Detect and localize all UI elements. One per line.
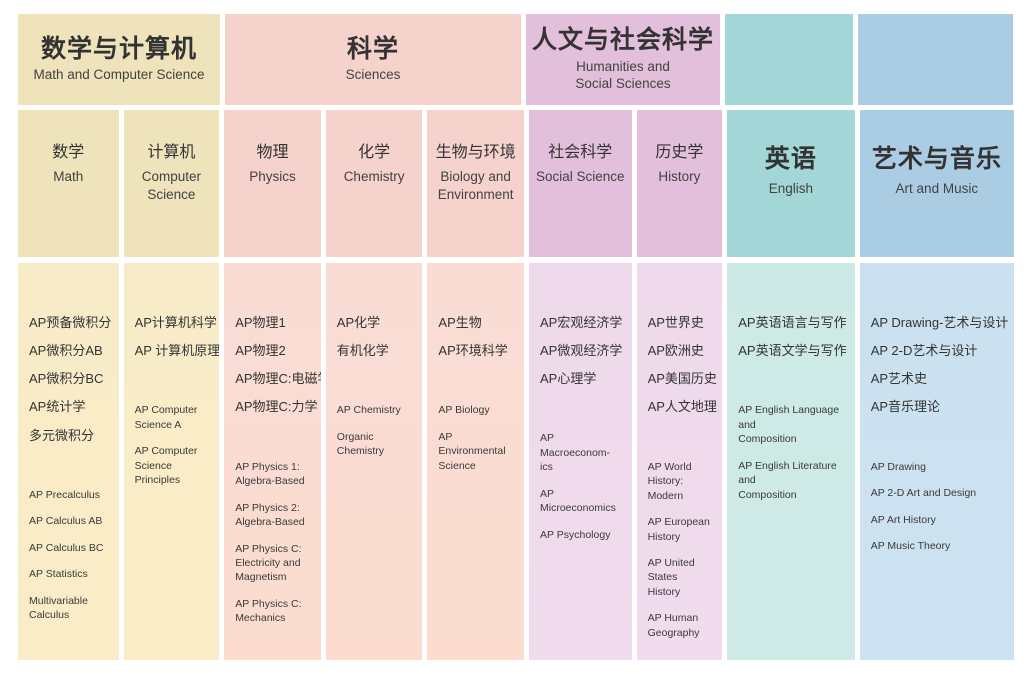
course-item-en: Organic Chemistry (337, 430, 413, 459)
course-item-en: AP English Literature andComposition (738, 459, 844, 502)
course-item-cn: AP化学 (337, 313, 413, 333)
course-item-en: AP ComputerScience A (135, 403, 210, 432)
course-item-cn: AP艺术史 (871, 369, 1004, 389)
subject-title-cn: 生物与环境 (436, 143, 516, 164)
course-list-cn: AP物理1AP物理2AP物理C:电磁学AP物理C:力学 (235, 313, 311, 418)
course-column-art-music[interactable]: AP Drawing-艺术与设计AP 2-D艺术与设计AP艺术史AP音乐理论 A… (860, 263, 1014, 660)
subject-title-en: History (658, 168, 700, 186)
faculty-title-cn: 数学与计算机 (41, 35, 197, 65)
course-item-cn: AP Drawing-艺术与设计 (871, 313, 1004, 333)
subject-header-row: 数学 Math 计算机 ComputerScience 物理 Physics 化… (18, 110, 1014, 257)
subject-header-math[interactable]: 数学 Math (18, 110, 119, 257)
faculty-title-en: Sciences (346, 67, 401, 84)
course-column-math[interactable]: AP预备微积分AP微积分ABAP微积分BCAP统计学多元微积分 AP Preca… (18, 263, 119, 660)
ap-course-catalog-board: 数学与计算机 Math and Computer Science 科学 Scie… (0, 0, 1032, 674)
course-item-cn: AP宏观经济学 (540, 313, 622, 333)
course-item-cn: AP 计算机原理 (135, 341, 210, 361)
course-item-cn: AP计算机科学 (135, 313, 210, 333)
course-item-cn: AP欧洲史 (648, 341, 713, 361)
course-item-cn: AP环境科学 (438, 341, 514, 361)
course-list-cn: AP生物AP环境科学 (438, 313, 514, 361)
subject-header-art-music[interactable]: 艺术与音乐 Art and Music (860, 110, 1014, 257)
course-list-en: AP DrawingAP 2-D Art and DesignAP Art Hi… (871, 460, 1004, 554)
subject-title-en: ComputerScience (142, 168, 201, 204)
course-item-cn: AP微观经济学 (540, 341, 622, 361)
course-item-cn: AP世界史 (648, 313, 713, 333)
faculty-banner-humanities: 人文与社会科学 Humanities andSocial Sciences (526, 14, 720, 105)
subject-title-en: Social Science (536, 168, 625, 186)
course-list-en: AP ComputerScience AAP ComputerScience P… (135, 403, 210, 487)
course-item-en: AP Calculus AB (29, 514, 109, 528)
subject-header-english[interactable]: 英语 English (727, 110, 854, 257)
course-item-en: AP Microeconomics (540, 487, 622, 516)
course-list-cn: AP计算机科学AP 计算机原理 (135, 313, 210, 361)
course-list-en: AP PrecalculusAP Calculus ABAP Calculus … (29, 488, 109, 623)
subject-title-cn: 物理 (256, 143, 288, 164)
course-list-cn: AP Drawing-艺术与设计AP 2-D艺术与设计AP艺术史AP音乐理论 (871, 313, 1004, 418)
course-column-history[interactable]: AP世界史AP欧洲史AP美国历史AP人文地理 AP World History:… (637, 263, 723, 660)
course-item-en: MultivariableCalculus (29, 594, 109, 623)
subject-title-en: Physics (249, 168, 296, 186)
subject-title-cn: 数学 (52, 143, 84, 164)
subject-title-en: Biology andEnvironment (438, 168, 514, 204)
course-column-computer-science[interactable]: AP计算机科学AP 计算机原理 AP ComputerScience AAP C… (124, 263, 220, 660)
course-item-en: AP EnvironmentalScience (438, 430, 514, 473)
course-item-en: AP Physics C:Mechanics (235, 597, 311, 626)
faculty-banner-art-music (858, 14, 1013, 105)
course-item-en: AP Drawing (871, 460, 1004, 474)
course-list-en: AP Physics 1:Algebra-BasedAP Physics 2:A… (235, 460, 311, 626)
faculty-title-cn: 科学 (347, 35, 399, 65)
subject-header-social-science[interactable]: 社会科学 Social Science (529, 110, 632, 257)
course-item-en: AP Physics 1:Algebra-Based (235, 460, 311, 489)
course-item-cn: AP美国历史 (648, 369, 713, 389)
faculty-title-en: Humanities andSocial Sciences (575, 59, 670, 93)
course-item-cn: AP统计学 (29, 397, 109, 417)
course-item-cn: 有机化学 (337, 341, 413, 361)
course-list-en: AP BiologyAP EnvironmentalScience (438, 403, 514, 473)
course-column-social-science[interactable]: AP宏观经济学AP微观经济学AP心理学 AP Macroeconom-icsAP… (529, 263, 632, 660)
subject-title-en: Math (53, 168, 83, 186)
course-list-cn: AP化学有机化学 (337, 313, 413, 361)
course-item-en: AP Music Theory (871, 539, 1004, 553)
course-item-en: AP Physics 2:Algebra-Based (235, 501, 311, 530)
course-column-physics[interactable]: AP物理1AP物理2AP物理C:电磁学AP物理C:力学 AP Physics 1… (224, 263, 321, 660)
course-item-en: AP 2-D Art and Design (871, 486, 1004, 500)
course-item-en: AP United StatesHistory (648, 556, 713, 599)
subject-title-cn: 艺术与音乐 (872, 143, 1002, 176)
course-item-cn: AP英语语言与写作 (738, 313, 844, 333)
faculty-banner-row: 数学与计算机 Math and Computer Science 科学 Scie… (18, 14, 1014, 105)
course-item-en: AP Psychology (540, 528, 622, 542)
subject-title-en: Chemistry (344, 168, 405, 186)
course-item-en: AP English Language andComposition (738, 403, 844, 446)
course-item-en: AP EuropeanHistory (648, 515, 713, 544)
course-item-cn: AP音乐理论 (871, 397, 1004, 417)
course-item-cn: 多元微积分 (29, 426, 109, 446)
course-list-en: AP World History:ModernAP EuropeanHistor… (648, 460, 713, 641)
faculty-banner-english (725, 14, 853, 105)
course-list-cn: AP世界史AP欧洲史AP美国历史AP人文地理 (648, 313, 713, 418)
subject-title-cn: 历史学 (655, 143, 703, 164)
course-item-cn: AP心理学 (540, 369, 622, 389)
faculty-title-cn: 人文与社会科学 (532, 26, 714, 56)
subject-header-history[interactable]: 历史学 History (637, 110, 723, 257)
course-item-cn: AP物理2 (235, 341, 311, 361)
course-column-biology[interactable]: AP生物AP环境科学 AP BiologyAP EnvironmentalSci… (427, 263, 524, 660)
course-item-en: AP Calculus BC (29, 541, 109, 555)
subject-title-cn: 化学 (358, 143, 390, 164)
course-list-en: AP ChemistryOrganic Chemistry (337, 403, 413, 458)
course-item-en: AP Art History (871, 513, 1004, 527)
course-list-en: AP Macroeconom-icsAP MicroeconomicsAP Ps… (540, 431, 622, 542)
course-list-cn: AP宏观经济学AP微观经济学AP心理学 (540, 313, 622, 389)
course-list-en: AP English Language andCompositionAP Eng… (738, 403, 844, 502)
course-item-en: AP World History:Modern (648, 460, 713, 503)
course-item-en: AP Precalculus (29, 488, 109, 502)
course-list-cn: AP预备微积分AP微积分ABAP微积分BCAP统计学多元微积分 (29, 313, 109, 446)
course-item-cn: AP英语文学与写作 (738, 341, 844, 361)
course-item-en: AP Physics C:Electricity andMagnetism (235, 542, 311, 585)
subject-header-chemistry[interactable]: 化学 Chemistry (326, 110, 423, 257)
subject-title-cn: 社会科学 (548, 143, 612, 164)
course-item-cn: AP人文地理 (648, 397, 713, 417)
course-column-english[interactable]: AP英语语言与写作AP英语文学与写作 AP English Language a… (727, 263, 854, 660)
subject-title-cn: 英语 (765, 143, 817, 176)
course-item-cn: AP物理C:电磁学 (235, 369, 311, 389)
course-item-cn: AP微积分BC (29, 369, 109, 389)
course-column-chemistry[interactable]: AP化学有机化学 AP ChemistryOrganic Chemistry (326, 263, 423, 660)
subject-header-computer-science[interactable]: 计算机 ComputerScience (124, 110, 220, 257)
course-item-en: AP Chemistry (337, 403, 413, 417)
course-item-cn: AP物理C:力学 (235, 397, 311, 417)
faculty-banner-math-cs: 数学与计算机 Math and Computer Science (18, 14, 220, 105)
subject-header-physics[interactable]: 物理 Physics (224, 110, 321, 257)
course-item-en: AP Biology (438, 403, 514, 417)
course-item-cn: AP生物 (438, 313, 514, 333)
course-list-cn: AP英语语言与写作AP英语文学与写作 (738, 313, 844, 361)
course-item-cn: AP物理1 (235, 313, 311, 333)
course-item-en: AP ComputerScience Principles (135, 444, 210, 487)
subject-title-en: Art and Music (896, 180, 979, 198)
course-body-row: AP预备微积分AP微积分ABAP微积分BCAP统计学多元微积分 AP Preca… (18, 263, 1014, 660)
course-item-en: AP HumanGeography (648, 611, 713, 640)
course-item-cn: AP预备微积分 (29, 313, 109, 333)
course-item-en: AP Statistics (29, 567, 109, 581)
course-item-cn: AP微积分AB (29, 341, 109, 361)
faculty-title-en: Math and Computer Science (33, 67, 204, 84)
course-item-en: AP Macroeconom-ics (540, 431, 622, 474)
subject-header-biology[interactable]: 生物与环境 Biology andEnvironment (427, 110, 524, 257)
subject-title-cn: 计算机 (147, 143, 195, 164)
course-item-cn: AP 2-D艺术与设计 (871, 341, 1004, 361)
faculty-banner-sciences: 科学 Sciences (225, 14, 521, 105)
subject-title-en: English (769, 180, 813, 198)
